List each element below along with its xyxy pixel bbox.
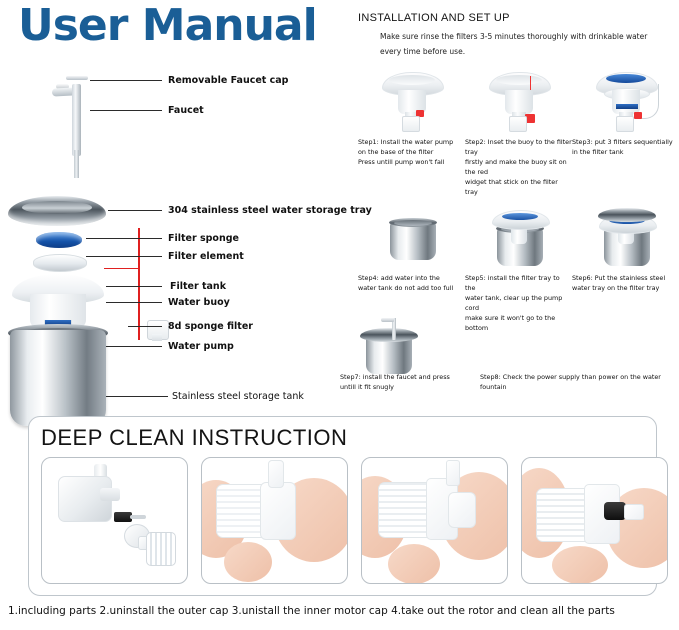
leader-line-3 — [108, 210, 162, 211]
step2-caption: Step2: Inset the buoy to the filter tray… — [465, 138, 572, 198]
step3-illustration — [590, 70, 662, 132]
install-steps-row-1: Step1: Install the water pump on the bas… — [358, 70, 679, 198]
installation-section: INSTALLATION AND SET UP Make sure rinse … — [358, 12, 676, 59]
deep-clean-photo-1 — [41, 457, 188, 584]
part-label-water-pump: Water pump — [168, 341, 234, 352]
leader-line-1 — [90, 80, 162, 81]
steel-tray-inner-illustration — [22, 201, 92, 214]
deep-clean-section: DEEP CLEAN INSTRUCTION — [28, 416, 657, 596]
deep-clean-heading: DEEP CLEAN INSTRUCTION — [41, 425, 347, 451]
step6-caption: Step6: Put the stainless steel water tra… — [572, 274, 679, 294]
step5-illustration — [483, 208, 555, 270]
install-step-3: Step3: put 3 filters sequentially in the… — [572, 70, 679, 198]
step7-illustration-wrap — [352, 318, 424, 380]
part-label-sponge-filter: 8d sponge filter — [168, 321, 253, 332]
sponge-filter-base-illustration — [152, 334, 162, 341]
filter-sponge-illustration — [36, 232, 82, 248]
leader-line-8 — [128, 326, 162, 327]
buoy-pointer-line — [138, 228, 140, 340]
installation-intro-line-2: every time before use. — [358, 45, 676, 59]
filter-element-illustration — [33, 254, 87, 272]
faucet-body-illustration — [72, 84, 81, 156]
deep-clean-panels — [41, 457, 668, 584]
faucet-stem-illustration — [74, 150, 79, 178]
deep-clean-photo-2 — [201, 457, 348, 584]
step5-caption: Step5: install the filter tray to the wa… — [465, 274, 572, 334]
install-step-6: Step6: Put the stainless steel water tra… — [572, 208, 679, 334]
user-manual-page: User Manual — [0, 0, 679, 630]
part-label-filter-element: Filter element — [168, 251, 244, 262]
step7-illustration — [352, 318, 424, 380]
step1-caption: Step1: Install the water pump on the bas… — [358, 138, 465, 168]
part-label-steel-tray: 304 stainless steel water storage tray — [168, 205, 372, 216]
installation-heading: INSTALLATION AND SET UP — [358, 12, 676, 24]
step4-illustration — [376, 208, 448, 270]
leader-line-4 — [86, 238, 162, 239]
deep-clean-bottom-caption: 1.including parts 2.uninstall the outer … — [8, 605, 675, 617]
leader-line-7 — [106, 302, 162, 303]
step6-illustration — [590, 208, 662, 270]
deep-clean-photo-3 — [361, 457, 508, 584]
step3-caption: Step3: put 3 filters sequentially in the… — [572, 138, 679, 158]
install-step-5: Step5: install the filter tray to the wa… — [465, 208, 572, 334]
faucet-cap-illustration — [66, 76, 88, 80]
install-steps-row-2: Step4: add water into the water tank do … — [358, 208, 679, 334]
leader-line-5 — [86, 256, 162, 257]
step4-caption: Step4: add water into the water tank do … — [358, 274, 465, 294]
part-label-storage-tank: Stainless steel storage tank — [172, 391, 304, 402]
leader-line-10 — [106, 396, 168, 397]
parts-exploded-diagram: Removable Faucet cap Faucet 304 stainles… — [0, 62, 350, 392]
installation-intro-line-1: Make sure rinse the filters 3-5 minutes … — [358, 30, 676, 44]
deep-clean-photo-4 — [521, 457, 668, 584]
part-label-filter-sponge: Filter sponge — [168, 233, 239, 244]
part-label-filter-tank: Filter tank — [170, 281, 226, 292]
page-title: User Manual — [18, 4, 317, 48]
part-label-faucet: Faucet — [168, 105, 204, 116]
storage-tank-illustration — [10, 330, 106, 426]
install-step-4: Step4: add water into the water tank do … — [358, 208, 465, 334]
install-step-2: Step2: Inset the buoy to the filter tray… — [465, 70, 572, 198]
step2-illustration — [483, 70, 555, 132]
leader-line-6 — [106, 286, 162, 287]
step7-caption: Step7: install the faucet and press unti… — [340, 373, 490, 393]
buoy-pointer-arm — [104, 268, 140, 269]
part-label-water-buoy: Water buoy — [168, 297, 230, 308]
step8-caption: Step8: Check the power supply than power… — [480, 373, 679, 393]
step1-illustration — [376, 70, 448, 132]
leader-line-9 — [106, 346, 162, 347]
leader-line-2 — [90, 110, 162, 111]
part-label-removable-faucet-cap: Removable Faucet cap — [168, 75, 288, 86]
install-step-1: Step1: Install the water pump on the bas… — [358, 70, 465, 198]
